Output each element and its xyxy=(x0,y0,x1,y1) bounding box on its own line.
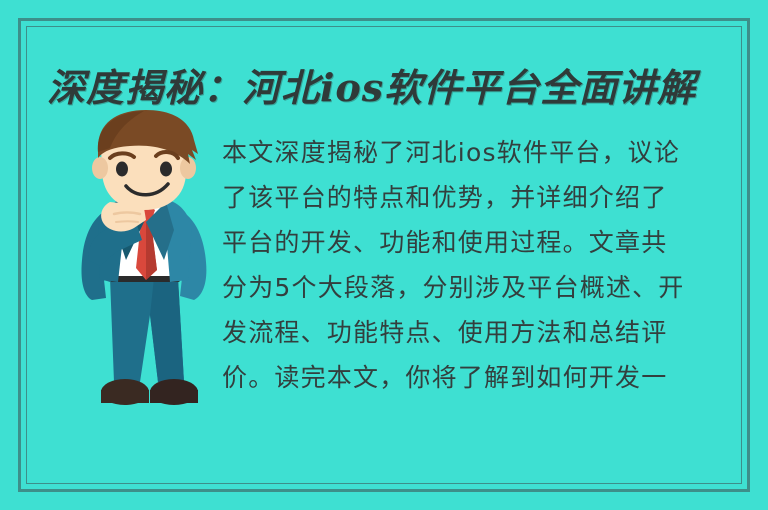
body-line: 发流程、功能特点、使用方法和总结评 xyxy=(222,310,732,355)
body-line: 了该平台的特点和优势，并详细介绍了 xyxy=(222,175,732,220)
shoe-right-sole xyxy=(150,390,198,403)
eye-right xyxy=(160,162,172,177)
page-title: 深度揭秘：河北ios软件平台全面讲解 xyxy=(47,61,727,115)
trousers-right-shadow xyxy=(150,278,184,382)
body-paragraph: 本文深度揭秘了河北ios软件平台，议论 了该平台的特点和优势，并详细介绍了 平台… xyxy=(222,130,732,400)
body-line: 分为5个大段落，分别涉及平台概述、开 xyxy=(222,265,732,310)
body-line: 价。读完本文，你将了解到如何开发一 xyxy=(222,355,732,400)
body-line: 本文深度揭秘了河北ios软件平台，议论 xyxy=(222,130,732,175)
poster-canvas: 深度揭秘：河北ios软件平台全面讲解 本文深度揭秘了河北ios软件平台，议论 了… xyxy=(0,0,768,510)
ear-left xyxy=(92,157,108,179)
eye-left xyxy=(116,162,128,177)
hand-finger-line-2 xyxy=(116,221,138,222)
body-line: 平台的开发、功能和使用过程。文章共 xyxy=(222,220,732,265)
shoe-left-sole xyxy=(101,390,149,403)
businessman-illustration xyxy=(58,110,228,430)
